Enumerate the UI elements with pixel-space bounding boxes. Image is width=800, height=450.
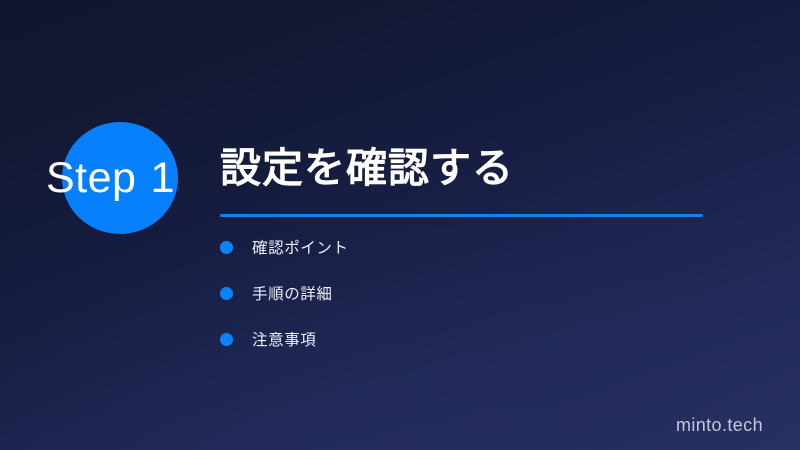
bullet-label: 手順の詳細 <box>252 282 333 304</box>
bullet-label: 確認ポイント <box>252 236 349 258</box>
bullet-label: 注意事項 <box>252 328 316 350</box>
step-label: Step1 <box>46 152 175 204</box>
bullet-dot-icon <box>220 333 233 346</box>
title-block: 設定を確認する <box>220 143 780 217</box>
title-divider <box>220 214 703 217</box>
slide-title: 設定を確認する <box>220 143 780 193</box>
presentation-slide: Step1 設定を確認する 確認ポイント 手順の詳細 注意事項 minto.te… <box>0 0 800 450</box>
list-item: 注意事項 <box>220 326 349 352</box>
bullet-dot-icon <box>220 241 233 254</box>
footer-watermark: minto.tech <box>676 415 763 436</box>
list-item: 手順の詳細 <box>220 280 349 306</box>
bullet-list: 確認ポイント 手順の詳細 注意事項 <box>220 234 349 352</box>
list-item: 確認ポイント <box>220 234 349 260</box>
step-number: 1 <box>150 154 174 202</box>
bullet-dot-icon <box>220 287 233 300</box>
step-word: Step <box>46 154 136 202</box>
